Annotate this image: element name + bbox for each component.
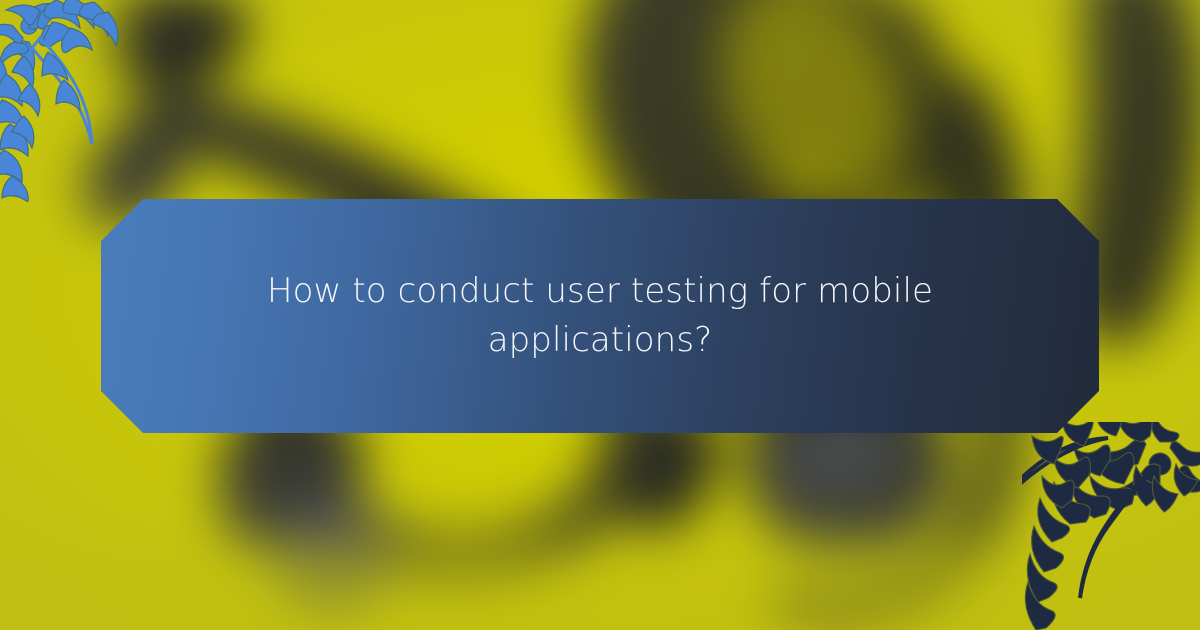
question-title: How to conduct user testing for mobile a…: [169, 267, 1031, 366]
damask-ornament-bottom-right: [1022, 422, 1200, 630]
damask-ornament-top-left: [0, 0, 120, 202]
question-card-panel: How to conduct user testing for mobile a…: [101, 199, 1099, 433]
question-card-graphic: How to conduct user testing for mobile a…: [0, 0, 1200, 630]
